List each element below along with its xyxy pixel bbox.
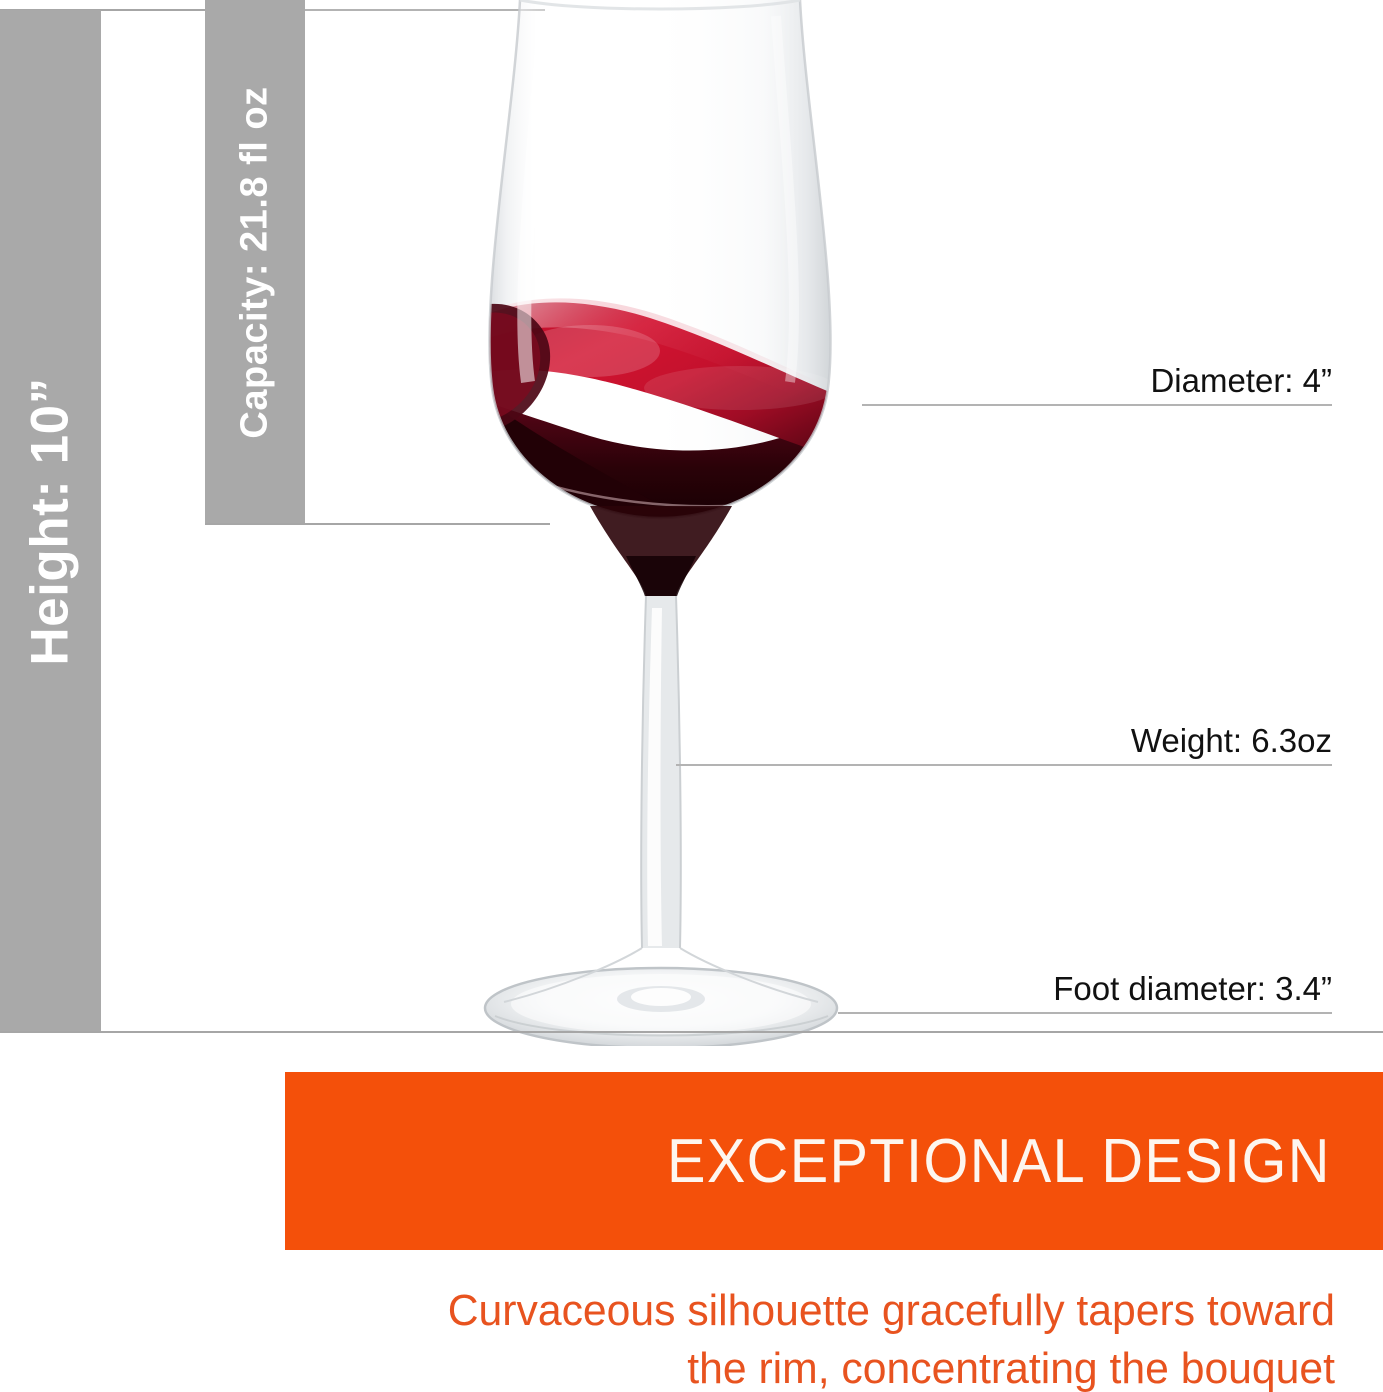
diameter-callout: Diameter: 4” xyxy=(932,362,1332,400)
height-measure-bar: Height: 10” xyxy=(0,10,101,1032)
capacity-measure-bar: Capacity: 21.8 fl oz xyxy=(205,0,305,524)
capacity-bottom-rule xyxy=(205,523,550,525)
product-infographic: Height: 10” Capacity: 21.8 fl oz Diamete… xyxy=(0,0,1383,1392)
weight-leader-line xyxy=(676,764,1332,766)
height-label: Height: 10” xyxy=(20,377,81,665)
diameter-leader-line xyxy=(862,404,1332,406)
caption-line-1: Curvaceous silhouette gracefully tapers … xyxy=(215,1282,1335,1340)
capacity-label: Capacity: 21.8 fl oz xyxy=(234,86,277,438)
foot-diameter-callout: Foot diameter: 3.4” xyxy=(832,970,1332,1008)
headline-text: EXCEPTIONAL DESIGN xyxy=(667,1126,1331,1197)
weight-callout: Weight: 6.3oz xyxy=(832,722,1332,760)
height-bottom-rule xyxy=(0,1031,1383,1033)
caption-block: Curvaceous silhouette gracefully tapers … xyxy=(180,1282,1335,1392)
headline-banner: EXCEPTIONAL DESIGN xyxy=(285,1072,1383,1250)
caption-line-2: the rim, concentrating the bouquet xyxy=(215,1340,1335,1392)
foot-diameter-leader-line xyxy=(838,1012,1332,1014)
